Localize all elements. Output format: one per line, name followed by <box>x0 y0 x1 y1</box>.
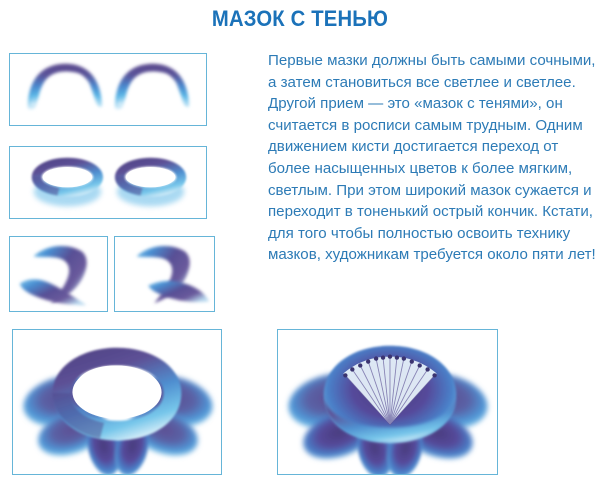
illustration-petal-pair-left <box>9 236 108 312</box>
petal-lower <box>148 281 209 302</box>
illustration-petal-pair-right <box>114 236 215 312</box>
petal-pair-left-svg <box>10 237 107 311</box>
illustration-ring-strokes <box>9 146 207 219</box>
flower-with-stamens-svg <box>278 330 497 474</box>
arc-stroke-right <box>115 64 189 111</box>
petal-pair-right-svg <box>115 237 214 311</box>
illustration-flower-with-stamens <box>277 329 498 475</box>
ring-stroke-left <box>32 158 103 207</box>
illustration-flower-open-ring <box>12 329 222 475</box>
body-paragraph: Первые мазки должны быть самыми сочными,… <box>268 50 598 266</box>
ring-stroke-right <box>115 158 186 207</box>
illustration-arc-strokes <box>9 53 207 126</box>
flower-open-ring-svg <box>13 330 221 474</box>
arc-strokes-svg <box>10 54 206 125</box>
ring-strokes-svg <box>10 147 206 218</box>
arc-stroke-left <box>28 64 102 111</box>
page-title: МАЗОК С ТЕНЬЮ <box>24 6 576 32</box>
